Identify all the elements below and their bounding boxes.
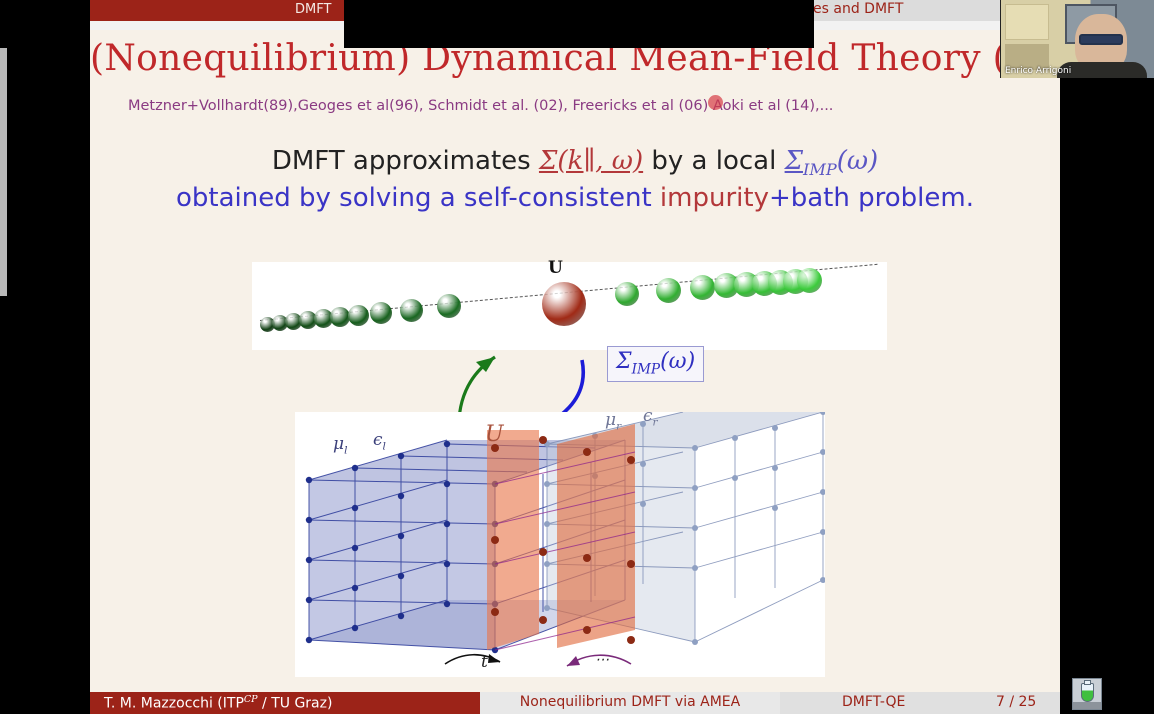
chain-bead — [690, 275, 715, 300]
chain-bead — [400, 299, 423, 322]
left-black-gutter — [0, 0, 90, 714]
citation-line: Metzner+Vollhardt(89),Geoges et al(96), … — [128, 98, 1028, 114]
laser-pointer-cursor — [708, 95, 723, 110]
black-occluder-overlay — [344, 0, 814, 48]
chain-u-label: U — [548, 258, 563, 278]
chain-bead — [615, 282, 639, 306]
statement-1-part-b: by a local — [643, 146, 784, 176]
chain-bead — [542, 282, 586, 326]
mu-left-label: μl — [333, 434, 347, 456]
lattice-figure: μl ϵl μr ϵr U t ⋯ — [295, 412, 825, 677]
nav-section-left[interactable]: DMFT — [295, 2, 331, 17]
chain-bead — [656, 278, 681, 303]
flask-app-icon[interactable] — [1072, 678, 1102, 710]
statement-line-2: obtained by solving a self-consistent im… — [90, 183, 1060, 213]
chain-bead — [348, 305, 369, 326]
chain-bead — [370, 302, 392, 324]
footer-author-superscript: CP — [244, 694, 258, 705]
sigma-box-subscript: IMP — [632, 361, 661, 377]
footer-page-number: 7 / 25 — [996, 694, 1036, 710]
correlated-plane-back — [557, 424, 635, 648]
webcam-tile[interactable]: Enrico Arrigoni — [1000, 0, 1154, 78]
screen: DMFT rities and DMFT (Nonequilibrium) Dy… — [0, 0, 1154, 714]
hopping-t-label: t — [481, 652, 488, 672]
mu-right-label: μr — [605, 410, 621, 432]
sigma-imp-subscript: IMP — [803, 160, 837, 179]
sigma-imp-box: ΣIMP(ω) — [607, 346, 704, 382]
presentation-slide: DMFT rities and DMFT (Nonequilibrium) Dy… — [90, 0, 1060, 714]
sigma-k-symbol: Σ(k∥, ω) — [539, 146, 643, 176]
hopping-arc-t-head — [488, 654, 500, 663]
epsilon-right-label: ϵr — [643, 406, 658, 428]
sigma-box-argument: (ω) — [660, 349, 695, 374]
impurity-chain-figure: U ΣIMP(ω) — [252, 262, 887, 350]
footer-right: DMFT-QE 7 / 25 — [780, 692, 1060, 714]
epsilon-left-label: ϵl — [373, 430, 386, 452]
webcam-person-glasses — [1079, 34, 1123, 45]
statement-2-part-b: +bath problem. — [769, 183, 974, 213]
footer-section: DMFT-QE — [842, 694, 905, 710]
hopping-tprime-label: ⋯ — [595, 652, 609, 668]
sigma-box-symbol: Σ — [616, 349, 632, 374]
footer-author-name: T. M. Mazzocchi (ITP — [104, 696, 244, 712]
statement-2-part-a: obtained by solving a self-consistent — [176, 183, 660, 213]
webcam-cabinet — [1005, 4, 1049, 40]
sigma-imp-argument: (ω) — [837, 146, 879, 176]
slide-footer: T. M. Mazzocchi (ITPCP / TU Graz) Nonequ… — [90, 692, 1060, 714]
hopping-arc-tprime-head — [567, 656, 580, 666]
flask-icon-label-strip — [1073, 702, 1101, 709]
footer-author: T. M. Mazzocchi (ITPCP / TU Graz) — [90, 692, 480, 714]
impurity-word: impurity — [660, 183, 769, 213]
footer-author-affiliation: / TU Graz) — [258, 696, 333, 712]
grey-sliver — [0, 48, 7, 296]
chain-bead — [330, 307, 350, 327]
statement-line-1: DMFT approximates Σ(k∥, ω) by a local ΣI… — [90, 146, 1060, 179]
footer-talk-title: Nonequilibrium DMFT via AMEA — [480, 692, 780, 714]
participant-name-label: Enrico Arrigoni — [1005, 66, 1071, 76]
green-arrow-head — [476, 357, 495, 372]
flask-icon — [1081, 683, 1094, 702]
lattice-u-label: U — [485, 422, 504, 447]
flask-cap-icon — [1084, 680, 1091, 685]
sigma-imp-symbol: Σ — [785, 146, 803, 176]
chain-bead — [437, 294, 461, 318]
chain-bead — [797, 268, 822, 293]
statement-1-part-a: DMFT approximates — [272, 146, 539, 176]
